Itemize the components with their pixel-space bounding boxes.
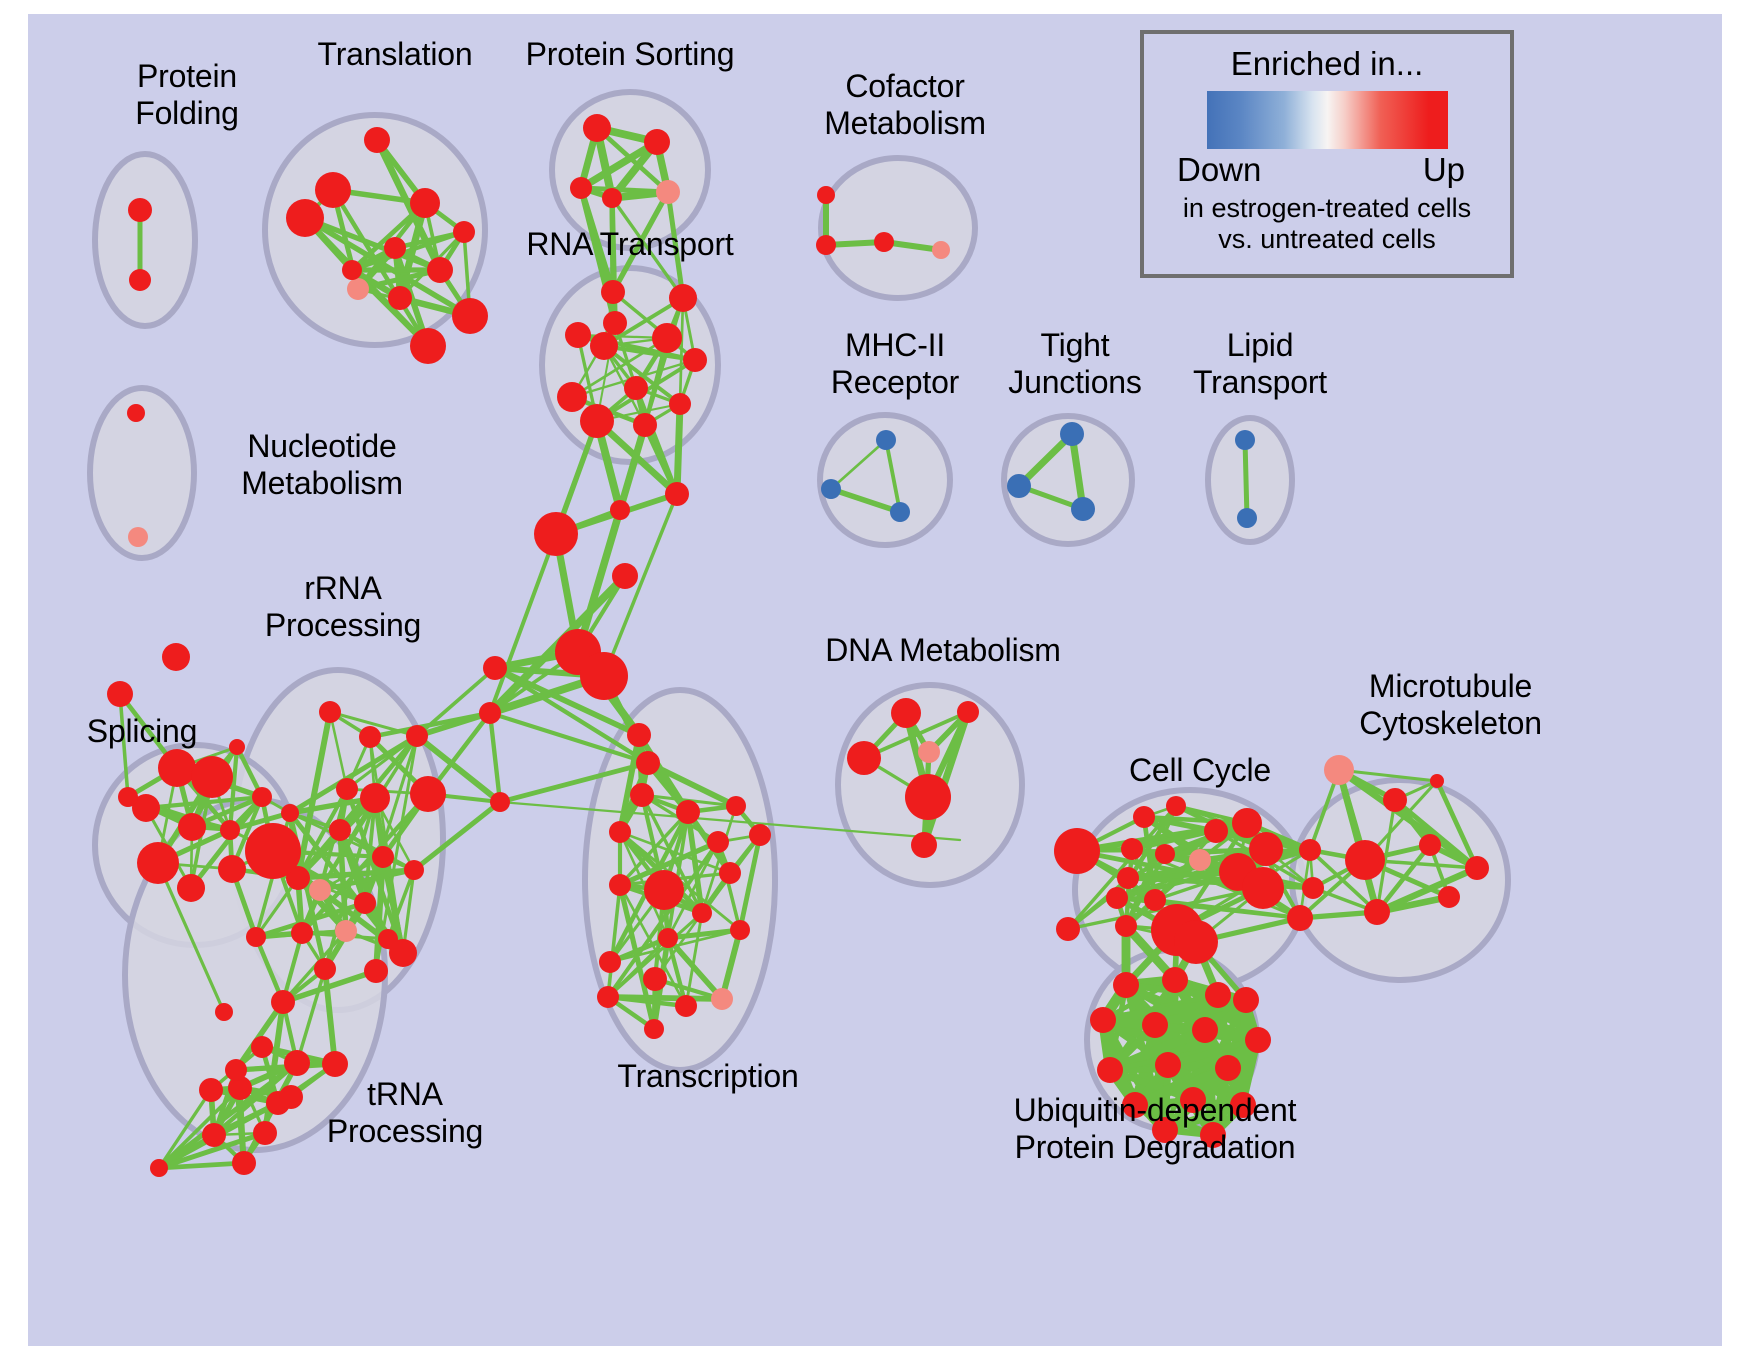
node-rrna-processing[interactable] <box>314 958 336 980</box>
node-cell-cycle[interactable] <box>1054 828 1100 874</box>
node-transcription[interactable] <box>711 988 733 1010</box>
node-trna-processing[interactable] <box>202 1123 226 1147</box>
node-cell-cycle[interactable] <box>1056 917 1080 941</box>
node-rrna-processing[interactable] <box>309 879 331 901</box>
node-ubiquitin-protein-degradation[interactable] <box>1180 1087 1206 1113</box>
node-cell-cycle[interactable] <box>1287 905 1313 931</box>
legend-down-label: Down <box>1177 151 1261 189</box>
node-rrna-processing[interactable] <box>404 860 424 880</box>
legend-color-bar <box>1207 91 1448 149</box>
node-trna-processing[interactable] <box>279 1085 303 1109</box>
edge <box>490 713 500 802</box>
node-trna-processing[interactable] <box>199 1078 223 1102</box>
node-cell-cycle[interactable] <box>1174 920 1218 964</box>
node-translation[interactable] <box>410 328 446 364</box>
node-cell-cycle[interactable] <box>1115 915 1137 937</box>
node-spine[interactable] <box>534 512 578 556</box>
node-protein-folding[interactable] <box>128 198 152 222</box>
node-translation[interactable] <box>452 298 488 334</box>
node-splicing[interactable] <box>177 874 205 902</box>
node-rrna-processing[interactable] <box>246 927 266 947</box>
node-protein-sorting[interactable] <box>656 180 680 204</box>
node-protein-folding[interactable] <box>129 269 151 291</box>
node-rna-transport[interactable] <box>683 348 707 372</box>
node-cell-cycle[interactable] <box>1189 849 1211 871</box>
node-ubiquitin-protein-degradation[interactable] <box>1162 967 1188 993</box>
node-cell-cycle[interactable] <box>1117 867 1139 889</box>
node-ubiquitin-protein-degradation[interactable] <box>1215 1055 1241 1081</box>
node-rrna-processing[interactable] <box>360 783 390 813</box>
node-splicing[interactable] <box>158 749 196 787</box>
node-translation[interactable] <box>427 257 453 283</box>
node-rrna-processing[interactable] <box>336 778 358 800</box>
node-transcription[interactable] <box>643 967 667 991</box>
node-cell-cycle[interactable] <box>1302 877 1324 899</box>
node-rna-transport[interactable] <box>669 284 697 312</box>
edge <box>677 404 680 494</box>
node-rrna-processing[interactable] <box>354 892 376 914</box>
node-cofactor-metabolism[interactable] <box>932 241 950 259</box>
node-rna-transport[interactable] <box>557 382 587 412</box>
node-splicing[interactable] <box>218 855 246 883</box>
node-spine[interactable] <box>483 656 507 680</box>
node-transcription[interactable] <box>630 783 654 807</box>
node-splicing[interactable] <box>191 756 233 798</box>
node-rrna-processing[interactable] <box>319 701 341 723</box>
node-ubiquitin-protein-degradation[interactable] <box>1192 1017 1218 1043</box>
node-protein-sorting[interactable] <box>570 177 592 199</box>
node-transcription[interactable] <box>609 821 631 843</box>
node-translation[interactable] <box>453 221 475 243</box>
node-transcription[interactable] <box>644 870 684 910</box>
node-transcription[interactable] <box>609 874 631 896</box>
node-microtubule-cytoskeleton[interactable] <box>1465 856 1489 880</box>
node-mhc-ii-receptor[interactable] <box>821 479 841 499</box>
node-microtubule-cytoskeleton[interactable] <box>1438 886 1460 908</box>
node-microtubule-cytoskeleton[interactable] <box>1430 774 1444 788</box>
node-splicing-out[interactable] <box>162 643 190 671</box>
legend-subtitle: in estrogen-treated cells vs. untreated … <box>1144 193 1510 255</box>
node-splicing[interactable] <box>252 787 272 807</box>
node-ubiquitin-protein-degradation[interactable] <box>1200 1122 1226 1148</box>
node-mhc-ii-receptor[interactable] <box>876 430 896 450</box>
node-ubiquitin-protein-degradation[interactable] <box>1233 987 1259 1013</box>
edge <box>1245 440 1247 518</box>
node-microtubule-cytoskeleton[interactable] <box>1383 788 1407 812</box>
node-rna-transport[interactable] <box>669 393 691 415</box>
node-rna-transport[interactable] <box>633 413 657 437</box>
node-cell-cycle[interactable] <box>1249 832 1283 866</box>
node-translation[interactable] <box>384 237 406 259</box>
node-nucleotide-metabolism[interactable] <box>128 527 148 547</box>
node-ubiquitin-protein-degradation[interactable] <box>1155 1052 1181 1078</box>
node-splicing-out[interactable] <box>229 739 245 755</box>
node-transcription[interactable] <box>597 986 619 1008</box>
node-rna-transport[interactable] <box>590 332 618 360</box>
node-rrna-processing[interactable] <box>389 939 417 967</box>
node-microtubule-cytoskeleton[interactable] <box>1345 840 1385 880</box>
node-trna-processing[interactable] <box>284 1050 310 1076</box>
node-tight-junctions[interactable] <box>1060 422 1084 446</box>
cluster-halo-cofactor-metabolism <box>821 158 975 298</box>
node-ubiquitin-protein-degradation[interactable] <box>1205 982 1231 1008</box>
node-rrna-processing[interactable] <box>410 776 446 812</box>
node-transcription[interactable] <box>749 824 771 846</box>
node-splicing[interactable] <box>137 842 179 884</box>
node-translation[interactable] <box>410 188 440 218</box>
node-cell-cycle[interactable] <box>1155 844 1175 864</box>
legend-endpoints: Down Up <box>1177 151 1477 191</box>
node-spine[interactable] <box>479 702 501 724</box>
node-cell-cycle[interactable] <box>1133 806 1155 828</box>
node-rrna-processing[interactable] <box>281 804 299 822</box>
node-trna-processing[interactable] <box>150 1159 168 1177</box>
node-tight-junctions[interactable] <box>1071 497 1095 521</box>
node-splicing[interactable] <box>118 787 138 807</box>
node-transcription[interactable] <box>726 796 746 816</box>
node-translation[interactable] <box>364 127 390 153</box>
node-rrna-processing[interactable] <box>245 823 301 879</box>
legend-title: Enriched in... <box>1144 45 1510 83</box>
node-trna-processing[interactable] <box>322 1051 348 1077</box>
node-cofactor-metabolism[interactable] <box>874 232 894 252</box>
node-microtubule-cytoskeleton[interactable] <box>1364 899 1390 925</box>
node-ubiquitin-protein-degradation[interactable] <box>1113 972 1139 998</box>
node-cell-cycle[interactable] <box>1242 867 1284 909</box>
node-splicing[interactable] <box>178 813 206 841</box>
node-transcription[interactable] <box>644 1019 664 1039</box>
legend-up-label: Up <box>1423 151 1465 189</box>
node-transcription[interactable] <box>730 920 750 940</box>
node-protein-sorting[interactable] <box>602 188 622 208</box>
node-protein-sorting[interactable] <box>644 129 670 155</box>
node-rna-transport[interactable] <box>603 311 627 335</box>
node-spine[interactable] <box>490 792 510 812</box>
node-microtubule-cytoskeleton[interactable] <box>1324 755 1354 785</box>
node-rna-transport[interactable] <box>601 280 625 304</box>
node-translation[interactable] <box>388 286 412 310</box>
node-cell-cycle[interactable] <box>1232 808 1262 838</box>
node-rrna-processing[interactable] <box>359 726 381 748</box>
node-transcription[interactable] <box>675 995 697 1017</box>
edge <box>608 997 722 999</box>
node-protein-sorting[interactable] <box>583 114 611 142</box>
node-cell-cycle[interactable] <box>1121 838 1143 860</box>
node-cell-cycle[interactable] <box>1204 819 1228 843</box>
node-ubiquitin-protein-degradation[interactable] <box>1122 1092 1148 1118</box>
node-trna-processing[interactable] <box>232 1151 256 1175</box>
node-splicing-out[interactable] <box>107 681 133 707</box>
node-ubiquitin-protein-degradation[interactable] <box>1245 1027 1271 1053</box>
node-trna-processing[interactable] <box>251 1036 273 1058</box>
node-dna-metabolism[interactable] <box>905 774 951 820</box>
node-ubiquitin-protein-degradation[interactable] <box>1142 1012 1168 1038</box>
node-cell-cycle[interactable] <box>1166 796 1186 816</box>
node-microtubule-cytoskeleton[interactable] <box>1419 834 1441 856</box>
node-cell-cycle[interactable] <box>1144 889 1166 911</box>
node-translation[interactable] <box>342 260 362 280</box>
node-transcription[interactable] <box>707 831 729 853</box>
node-transcription[interactable] <box>692 903 712 923</box>
node-spine[interactable] <box>627 723 651 747</box>
node-cofactor-metabolism[interactable] <box>817 186 835 204</box>
node-splicing[interactable] <box>220 820 240 840</box>
node-spine[interactable] <box>612 563 638 589</box>
node-rrna-processing[interactable] <box>335 920 357 942</box>
node-translation[interactable] <box>286 199 324 237</box>
node-spine[interactable] <box>636 751 660 775</box>
node-trna-processing[interactable] <box>225 1059 247 1081</box>
node-ubiquitin-protein-degradation[interactable] <box>1230 1092 1256 1118</box>
node-cell-cycle[interactable] <box>1106 887 1128 909</box>
node-rrna-processing[interactable] <box>372 846 394 868</box>
node-translation[interactable] <box>315 172 351 208</box>
node-dna-metabolism[interactable] <box>891 698 921 728</box>
node-spine[interactable] <box>610 500 630 520</box>
node-spine[interactable] <box>665 482 689 506</box>
node-dna-metabolism[interactable] <box>911 832 937 858</box>
node-transcription[interactable] <box>719 862 741 884</box>
cluster-halo-protein-folding <box>95 154 195 326</box>
node-rrna-processing[interactable] <box>364 959 388 983</box>
node-ubiquitin-protein-degradation[interactable] <box>1090 1007 1116 1033</box>
node-dna-metabolism[interactable] <box>957 701 979 723</box>
node-lipid-transport[interactable] <box>1235 430 1255 450</box>
node-rna-transport[interactable] <box>580 404 614 438</box>
node-cofactor-metabolism[interactable] <box>816 235 836 255</box>
node-ubiquitin-protein-degradation[interactable] <box>1152 1117 1178 1143</box>
node-rrna-processing[interactable] <box>329 819 351 841</box>
legend-box: Enriched in... Down Up in estrogen-treat… <box>1140 30 1514 278</box>
node-translation[interactable] <box>347 278 369 300</box>
node-spine[interactable] <box>580 652 628 700</box>
node-rrna-processing[interactable] <box>406 725 428 747</box>
network-figure: Protein FoldingTranslationProtein Sortin… <box>0 0 1750 1360</box>
node-transcription[interactable] <box>599 951 621 973</box>
node-dna-metabolism[interactable] <box>918 741 940 763</box>
node-rna-transport[interactable] <box>565 322 591 348</box>
node-nucleotide-metabolism[interactable] <box>127 404 145 422</box>
node-splicing[interactable] <box>215 1003 233 1021</box>
node-rna-transport[interactable] <box>652 323 682 353</box>
node-ubiquitin-protein-degradation[interactable] <box>1097 1057 1123 1083</box>
node-mhc-ii-receptor[interactable] <box>890 502 910 522</box>
node-rrna-processing[interactable] <box>291 922 313 944</box>
node-dna-metabolism[interactable] <box>847 741 881 775</box>
node-lipid-transport[interactable] <box>1237 508 1257 528</box>
node-transcription[interactable] <box>676 800 700 824</box>
node-trna-processing[interactable] <box>253 1121 277 1145</box>
node-tight-junctions[interactable] <box>1007 474 1031 498</box>
node-cell-cycle[interactable] <box>1299 839 1321 861</box>
node-trna-processing[interactable] <box>271 990 295 1014</box>
node-transcription[interactable] <box>658 928 678 948</box>
node-rna-transport[interactable] <box>624 376 648 400</box>
